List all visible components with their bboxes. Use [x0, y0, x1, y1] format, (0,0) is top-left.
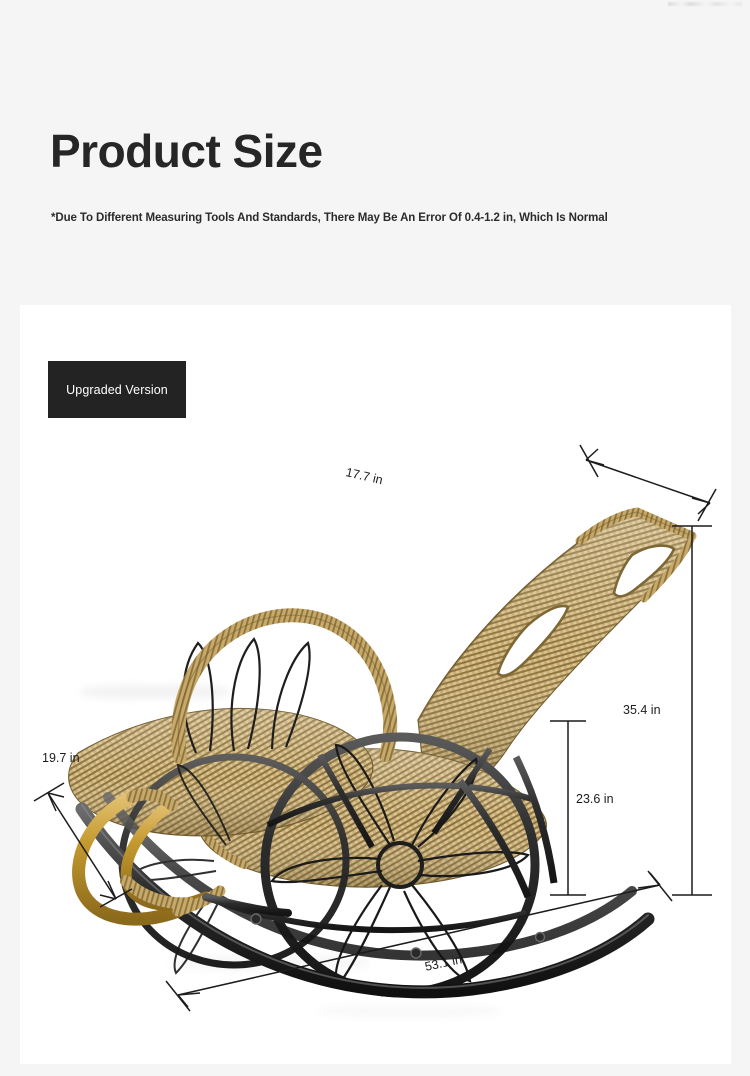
- dimension-line-height: [672, 526, 712, 895]
- product-size-page: Product Size *Due To Different Measuring…: [0, 0, 750, 1076]
- dimension-label-seat-height: 23.6 in: [576, 792, 614, 806]
- dimension-line-seat-height: [550, 721, 586, 895]
- product-image-card: Upgraded Version: [20, 305, 731, 1064]
- dimension-line-width: [580, 445, 716, 521]
- measurement-disclaimer: *Due To Different Measuring Tools And St…: [51, 212, 608, 224]
- dimension-lines: [20, 305, 731, 1064]
- dimension-line-length: [166, 871, 672, 1011]
- page-title: Product Size: [50, 128, 323, 174]
- dimension-label-height: 35.4 in: [623, 703, 661, 717]
- scan-artifact: [668, 2, 742, 6]
- dimension-label-depth: 19.7 in: [42, 751, 80, 765]
- dimension-line-depth: [34, 783, 132, 907]
